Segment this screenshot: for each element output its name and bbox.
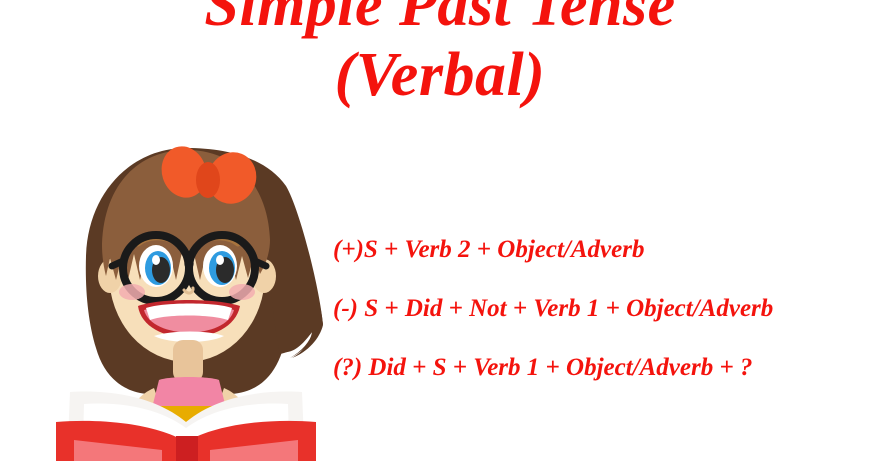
formula-list: (+)S + Verb 2 + Object/Adverb (-) S + Di… [333,220,873,397]
neck-icon [173,340,203,382]
poster-canvas: Simple Past Tense (Verbal) (+)S + Verb 2… [0,0,880,461]
formula-interrogative: (?) Did + S + Verb 1 + Object/Adverb + ? [333,338,873,397]
title-line-1: Simple Past Tense [0,0,880,40]
girl-reading-illustration [36,140,336,461]
formula-affirmative: (+)S + Verb 2 + Object/Adverb [333,220,873,279]
formula-negative: (-) S + Did + Not + Verb 1 + Object/Adve… [333,279,873,338]
page-title: Simple Past Tense (Verbal) [0,0,880,110]
title-line-2: (Verbal) [0,40,880,110]
